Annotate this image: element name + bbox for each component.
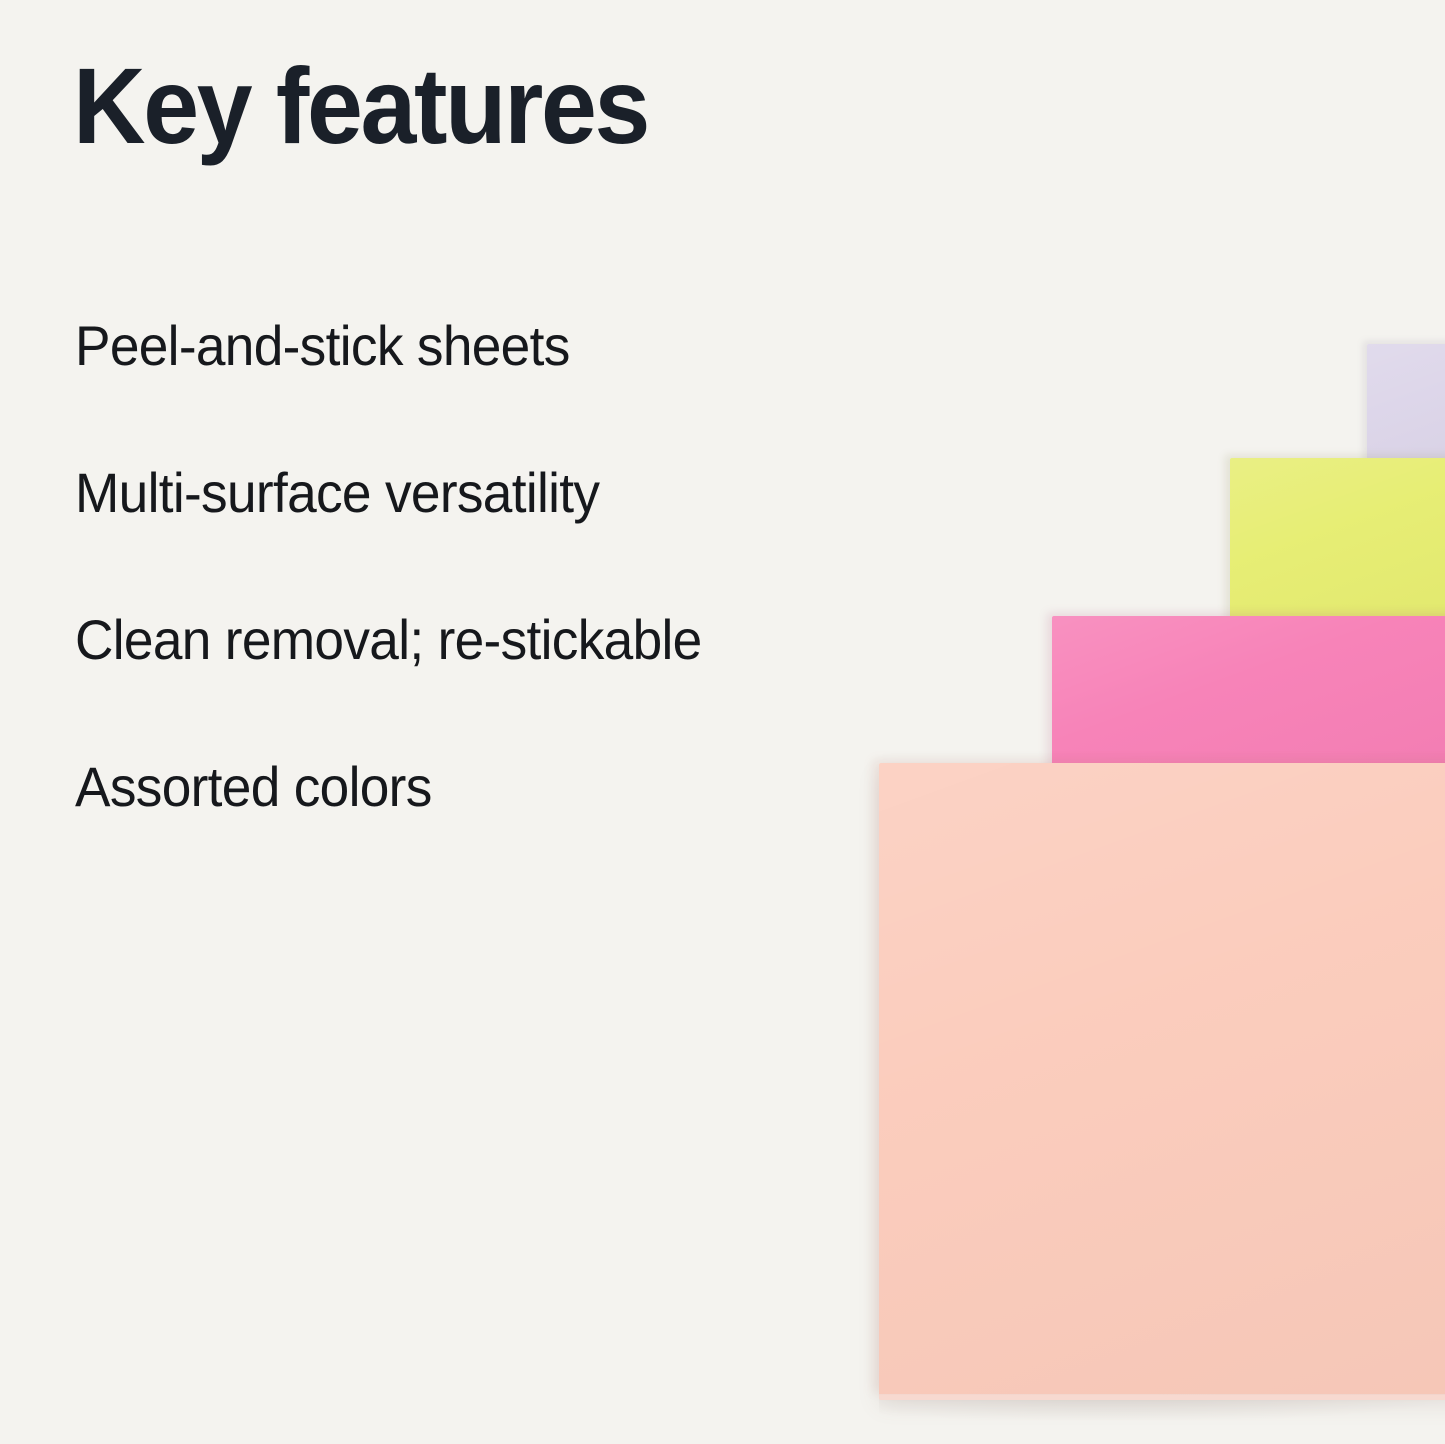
feature-list-item: Multi-surface versatility (75, 465, 826, 521)
text-column: Key features Peel-and-stick sheets Multi… (0, 0, 860, 1444)
sticky-note-purple-sheet (1367, 344, 1445, 474)
feature-list: Peel-and-stick sheets Multi-surface vers… (75, 318, 865, 815)
feature-list-item: Clean removal; re-stickable (75, 612, 826, 668)
key-features-panel: Key features Peel-and-stick sheets Multi… (0, 0, 1445, 1444)
feature-list-item: Peel-and-stick sheets (75, 318, 826, 374)
sticky-note-pink-sheet (1052, 616, 1445, 781)
sticky-note-peach-sheet (879, 763, 1445, 1395)
page-title: Key features (73, 52, 648, 160)
sticky-note-yellow-sheet (1230, 458, 1445, 630)
feature-list-item: Assorted colors (75, 759, 826, 815)
